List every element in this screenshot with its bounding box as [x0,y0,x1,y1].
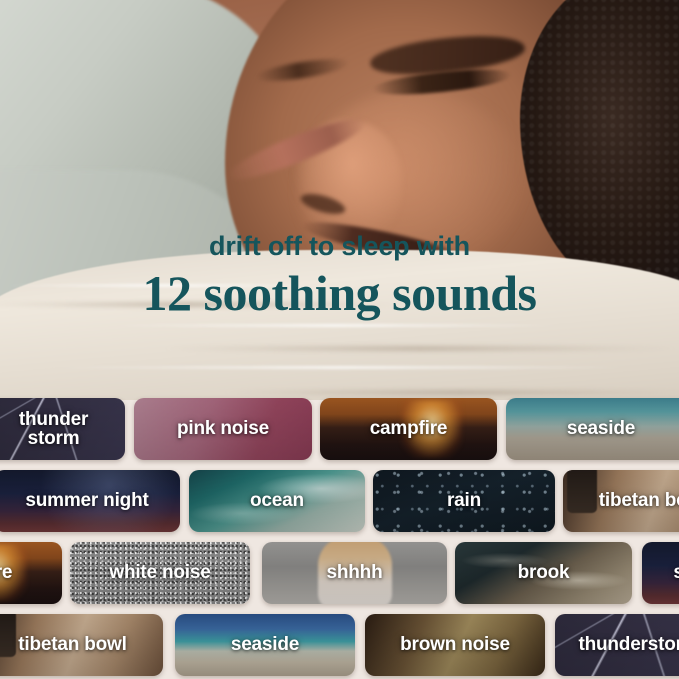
sound-chip-thunder-storm[interactable]: thunder storm [0,398,125,460]
sound-chip-row-4: tibetan bowlseasidebrown noisethundersto… [0,614,679,676]
sound-chip-campfire[interactable]: campfire [0,542,62,604]
sound-chip-label: summer night [667,563,679,582]
sound-chip-tibetan-bowl[interactable]: tibetan bowl [0,614,163,676]
sound-chip-pink-noise[interactable]: pink noise [134,398,312,460]
sound-chip-label: thunder storm [13,410,94,449]
sound-chip-shhhh[interactable]: shhhh [262,542,447,604]
sound-chip-row-2: summer nightoceanraintibetan bowl [0,470,679,532]
sound-chip-label: shhhh [321,563,389,582]
sound-chip-summer-night[interactable]: summer night [642,542,679,604]
sound-chip-label: tibetan bowl [593,491,679,510]
sound-chip-rain[interactable]: rain [373,470,555,532]
sound-chip-label: campfire [0,563,18,582]
pillow-fold [100,324,570,327]
promo-subheading: drift off to sleep with [0,232,679,262]
sound-chip-label: ocean [244,491,310,510]
sound-chip-label: pink noise [171,419,275,438]
sound-chip-row-3: campfirewhite noiseshhhhbrooksummer nigh… [0,542,679,604]
sound-chip-campfire[interactable]: campfire [320,398,497,460]
hero-photo-sleeping-man [0,0,679,400]
sound-chip-grid: thunder stormpink noisecampfireseaside s… [0,390,679,679]
sound-chip-brown-noise[interactable]: brown noise [365,614,545,676]
sound-chip-thunderstorm[interactable]: thunderstorm [555,614,679,676]
sound-chip-tibetan-bowl[interactable]: tibetan bowl [563,470,679,532]
sound-chip-label: white noise [103,563,216,582]
sound-chip-label: tibetan bowl [12,635,132,654]
sound-chip-label: seaside [561,419,641,438]
sound-chip-label: summer night [19,491,154,510]
sound-chip-label: campfire [364,419,454,438]
sound-chip-label: seaside [225,635,305,654]
sound-chip-white-noise[interactable]: white noise [70,542,250,604]
pillow-shadow [160,346,679,351]
sound-chip-label: brown noise [394,635,516,654]
sleep-sounds-promo-image: drift off to sleep with 12 soothing soun… [0,0,679,679]
sound-chip-summer-night[interactable]: summer night [0,470,180,532]
sound-chip-ocean[interactable]: ocean [189,470,365,532]
promo-copy: drift off to sleep with 12 soothing soun… [0,232,679,320]
sound-chip-brook[interactable]: brook [455,542,632,604]
sound-chip-row-1: thunder stormpink noisecampfireseaside [0,398,679,460]
pillow-fold [40,366,640,369]
promo-headline: 12 soothing sounds [0,267,679,320]
sound-chip-seaside[interactable]: seaside [506,398,679,460]
sound-chip-label: brook [512,563,576,582]
sound-chip-label: thunderstorm [572,635,679,654]
sound-chip-label: rain [441,491,487,510]
sound-chip-seaside[interactable]: seaside [175,614,355,676]
